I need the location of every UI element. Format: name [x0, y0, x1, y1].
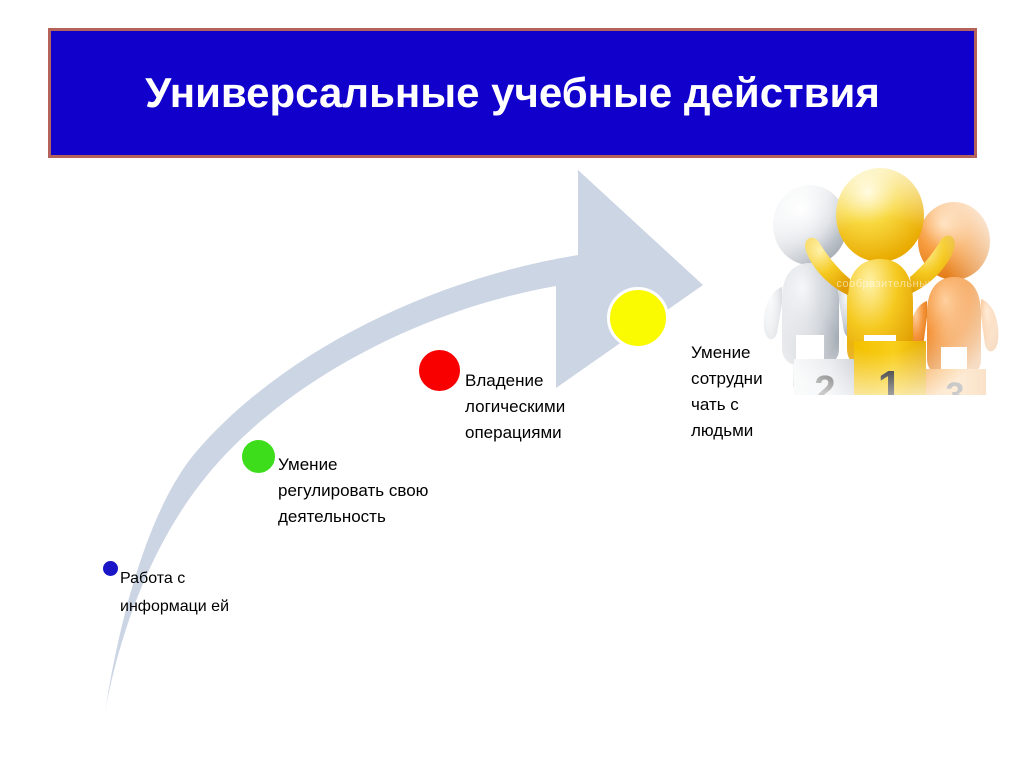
slide-canvas: Универсальные учебные действия Работа с …	[0, 0, 1024, 767]
milestone-label-logic: Владение логическими операциями	[465, 368, 615, 446]
milestone-dot-regulate[interactable]	[240, 438, 277, 475]
winners-podium-photo: 2 3 1	[762, 163, 1002, 408]
milestone-label-regulate: Умение регулировать свою деятельность	[278, 452, 443, 530]
milestone-dot-cooperate[interactable]	[607, 287, 669, 349]
milestone-dot-info[interactable]	[103, 561, 118, 576]
milestone-label-info: Работа с информаци ей	[120, 565, 270, 621]
milestone-dot-logic[interactable]	[417, 348, 462, 393]
